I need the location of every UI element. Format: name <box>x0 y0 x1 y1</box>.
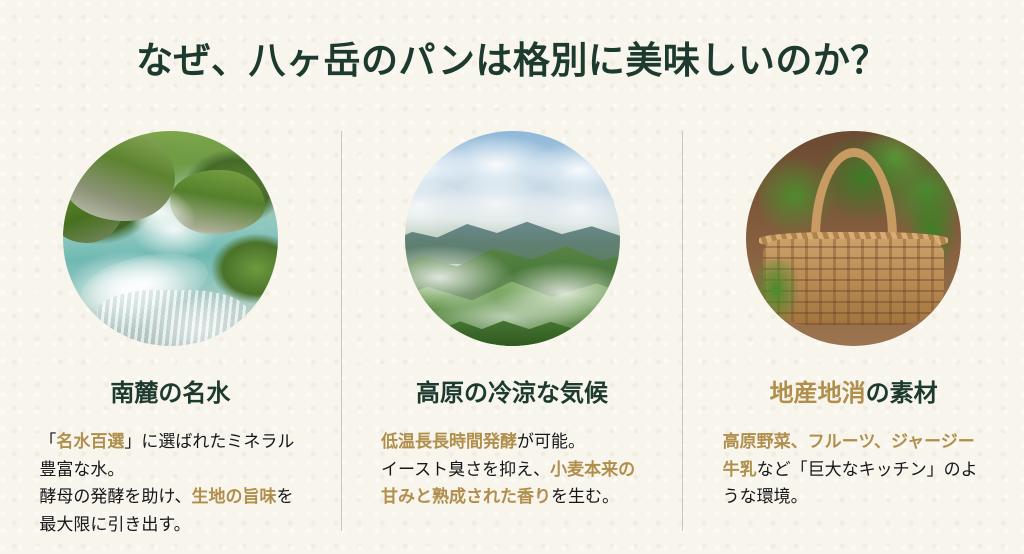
column-3-heading-green: の素材 <box>866 380 938 407</box>
leafy-greens-left <box>746 260 798 333</box>
body-text-run: が可能。 <box>517 432 585 451</box>
highlighted-text: 生地の旨味 <box>191 487 276 506</box>
column-3-body: 高原野菜、フルーツ、ジャージー牛乳など「巨大なキッチン」のような環境。 <box>723 428 985 511</box>
column-3-heading-gold: 地産地消 <box>770 380 866 407</box>
body-text-run: を生む。 <box>551 487 619 506</box>
tomato-cluster <box>858 282 957 342</box>
body-text-run: など「巨大なキッチン」のような環境。 <box>723 460 978 507</box>
vegetable-basket-photo <box>746 131 961 346</box>
slide-root: なぜ、八ヶ岳のパンは格別に美味しいのか？ 南麓の名水 「名水百選」に選ばれたミネ… <box>0 0 1024 554</box>
column-2-heading: 高原の冷涼な気候 <box>416 378 608 409</box>
column-3-heading: 地産地消の素材 <box>770 378 938 409</box>
feature-column-3: 地産地消の素材 高原野菜、フルーツ、ジャージー牛乳など「巨大なキッチン」のような… <box>683 131 1024 531</box>
title-container: なぜ、八ヶ岳のパンは格別に美味しいのか？ <box>0 38 1024 84</box>
highland-mountains-photo <box>405 131 620 346</box>
body-text-run: 酵母の発酵を助け、 <box>39 487 191 506</box>
highlighted-text: 名水百選 <box>56 432 124 451</box>
column-2-body: 低温長長時間発酵が可能。イースト臭さを抑え、小麦本来の甘みと熟成された香りを生む… <box>381 428 643 511</box>
column-1-heading: 南麓の名水 <box>110 378 230 409</box>
moss-rock-right <box>63 131 175 221</box>
feature-columns: 南麓の名水 「名水百選」に選ばれたミネラル豊富な水。酵母の発酵を助け、生地の旨味… <box>0 131 1024 531</box>
column-1-heading-green: 南麓の名水 <box>110 380 230 407</box>
body-text-run: イースト臭さを抑え、 <box>381 460 550 479</box>
feature-column-1: 南麓の名水 「名水百選」に選ばれたミネラル豊富な水。酵母の発酵を助け、生地の旨味… <box>0 131 341 531</box>
column-2-heading-green: 高原の冷涼な気候 <box>416 380 608 407</box>
mist-layer <box>405 243 620 329</box>
highlighted-text: 低温長長時間発酵 <box>381 432 517 451</box>
feature-column-2: 高原の冷涼な気候 低温長長時間発酵が可能。イースト臭さを抑え、小麦本来の甘みと熟… <box>342 131 683 531</box>
column-1-body: 「名水百選」に選ばれたミネラル豊富な水。酵母の発酵を助け、生地の旨味を最大限に引… <box>39 428 301 538</box>
rapids-texture <box>97 290 248 346</box>
body-text-run: 「 <box>39 432 56 451</box>
mountain-stream-photo <box>63 131 278 346</box>
page-title: なぜ、八ヶ岳のパンは格別に美味しいのか？ <box>136 38 888 84</box>
